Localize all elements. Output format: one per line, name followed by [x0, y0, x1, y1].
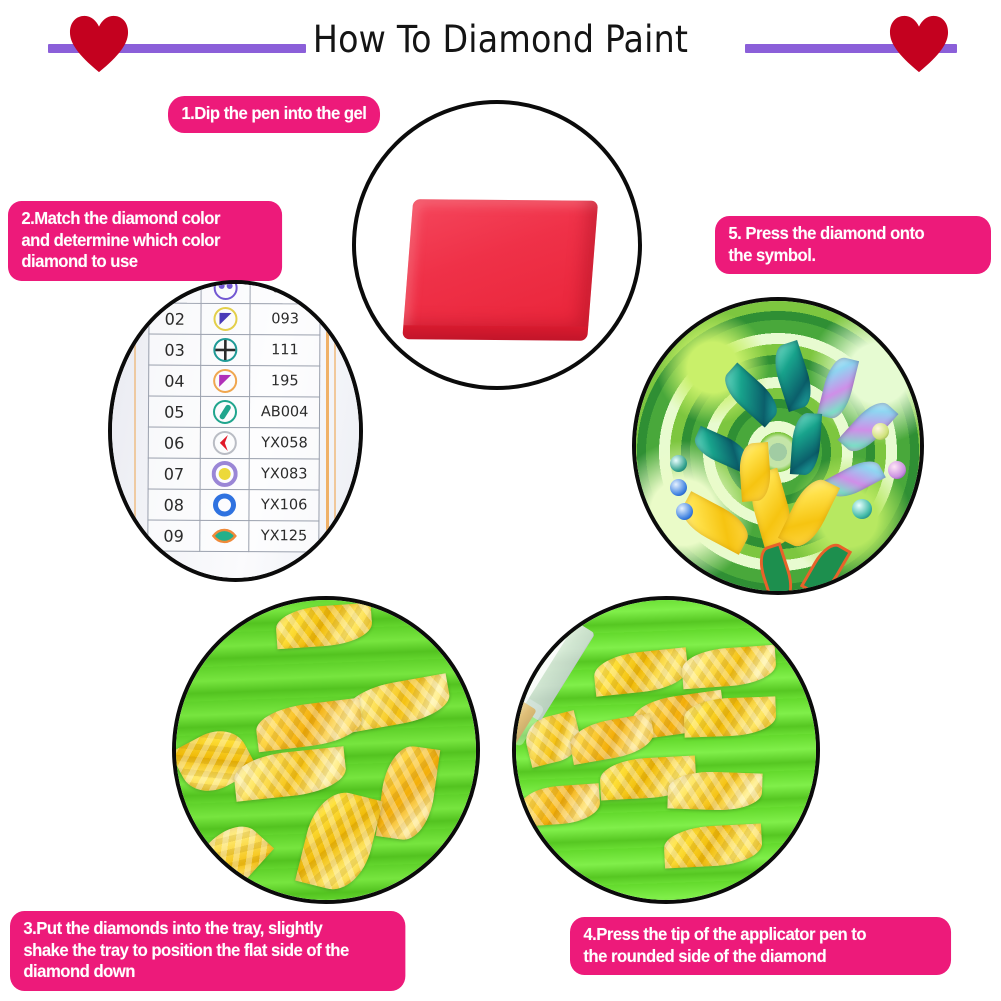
chart-cell-code: YX125 [249, 521, 319, 552]
chart-cell-symbol-open-ring-icon [200, 489, 250, 520]
color-chart-row: 020 [149, 280, 320, 304]
chart-cell-number: 07 [148, 458, 200, 489]
applicator-pen [352, 100, 404, 306]
chart-cell-code: 093 [250, 304, 320, 335]
chart-cell-symbol-filled-dot-icon [200, 458, 250, 489]
gem-dot [872, 423, 889, 440]
chart-cell-symbol-triangle-filled-icon [200, 365, 250, 396]
chart-cell-code: YX058 [250, 428, 320, 459]
chart-cell-number: 02 [149, 303, 201, 334]
chart-margin-line [134, 280, 136, 582]
chart-cell-code: YX106 [249, 490, 319, 521]
chart-cell-symbol-plus-cross-icon [200, 334, 250, 365]
chart-margin-line [326, 280, 329, 582]
step-2-label: 2.Match the diamond color and determine … [8, 201, 282, 281]
gem-dot [676, 503, 693, 520]
infographic-page: How To Diamond Paint 1.Dip the pen into … [0, 0, 1001, 1001]
chart-cell-number: 03 [149, 334, 201, 365]
step-1-photo-pen-dipping-gel [352, 100, 642, 390]
color-chart-row: 07YX083 [148, 458, 319, 490]
page-title: How To Diamond Paint [0, 18, 1001, 62]
step-5-photo-diamond-on-canvas [632, 297, 924, 595]
chart-cell-symbol-left-arrow-icon [200, 427, 250, 458]
color-chart-row: 02093 [149, 303, 320, 335]
color-chart-row: 08YX106 [148, 489, 319, 521]
chart-cell-code: AB004 [250, 397, 320, 428]
chart-cell-symbol-slash-bar-icon [200, 396, 250, 427]
gem-dot [670, 455, 687, 472]
step-3-photo-diamonds-in-tray [172, 596, 480, 904]
chart-cell-symbol-triangle-filled-icon [200, 303, 250, 334]
pen-cap [352, 100, 404, 160]
step-4-photo-pen-pressing-diamond [512, 596, 820, 904]
color-chart-row: 03111 [149, 334, 320, 366]
step-1-label: 1.Dip the pen into the gel [168, 96, 380, 133]
chart-margin-line [334, 280, 336, 582]
gel-pad [403, 199, 598, 333]
step-4-label: 4.Press the tip of the applicator pen to… [570, 917, 951, 975]
chart-cell-symbol-leaf-marquise-icon [199, 520, 249, 551]
gem-dot [852, 499, 872, 519]
chart-cell-number [149, 280, 201, 303]
chart-cell-symbol-double-dot-circle-icon [201, 280, 251, 304]
chart-cell-number: 05 [148, 396, 200, 427]
step-2-photo-color-chart: 02002093031110419505AB00406YX05807YX0830… [108, 280, 363, 582]
gem-dot [670, 479, 687, 496]
chart-cell-number: 04 [149, 365, 201, 396]
chart-cell-number: 08 [148, 489, 200, 520]
chart-cell-code: 020 [250, 280, 320, 304]
color-chart-row: 09YX125 [148, 520, 319, 552]
color-chart-row: 06YX058 [148, 427, 319, 459]
color-chart-row: 05AB004 [148, 396, 319, 428]
step-3-label: 3.Put the diamonds into the tray, slight… [10, 911, 405, 991]
chart-cell-number: 09 [148, 520, 200, 551]
color-chart-table: 02002093031110419505AB00406YX05807YX0830… [147, 280, 320, 552]
color-chart-row: 04195 [149, 365, 320, 397]
step-5-label: 5. Press the diamond onto the symbol. [715, 216, 991, 274]
chart-cell-code: 195 [250, 366, 320, 397]
chart-cell-code: 111 [250, 335, 320, 366]
chart-cell-code: YX083 [249, 459, 319, 490]
gem-dot [888, 461, 906, 479]
chart-cell-number: 06 [148, 427, 200, 458]
